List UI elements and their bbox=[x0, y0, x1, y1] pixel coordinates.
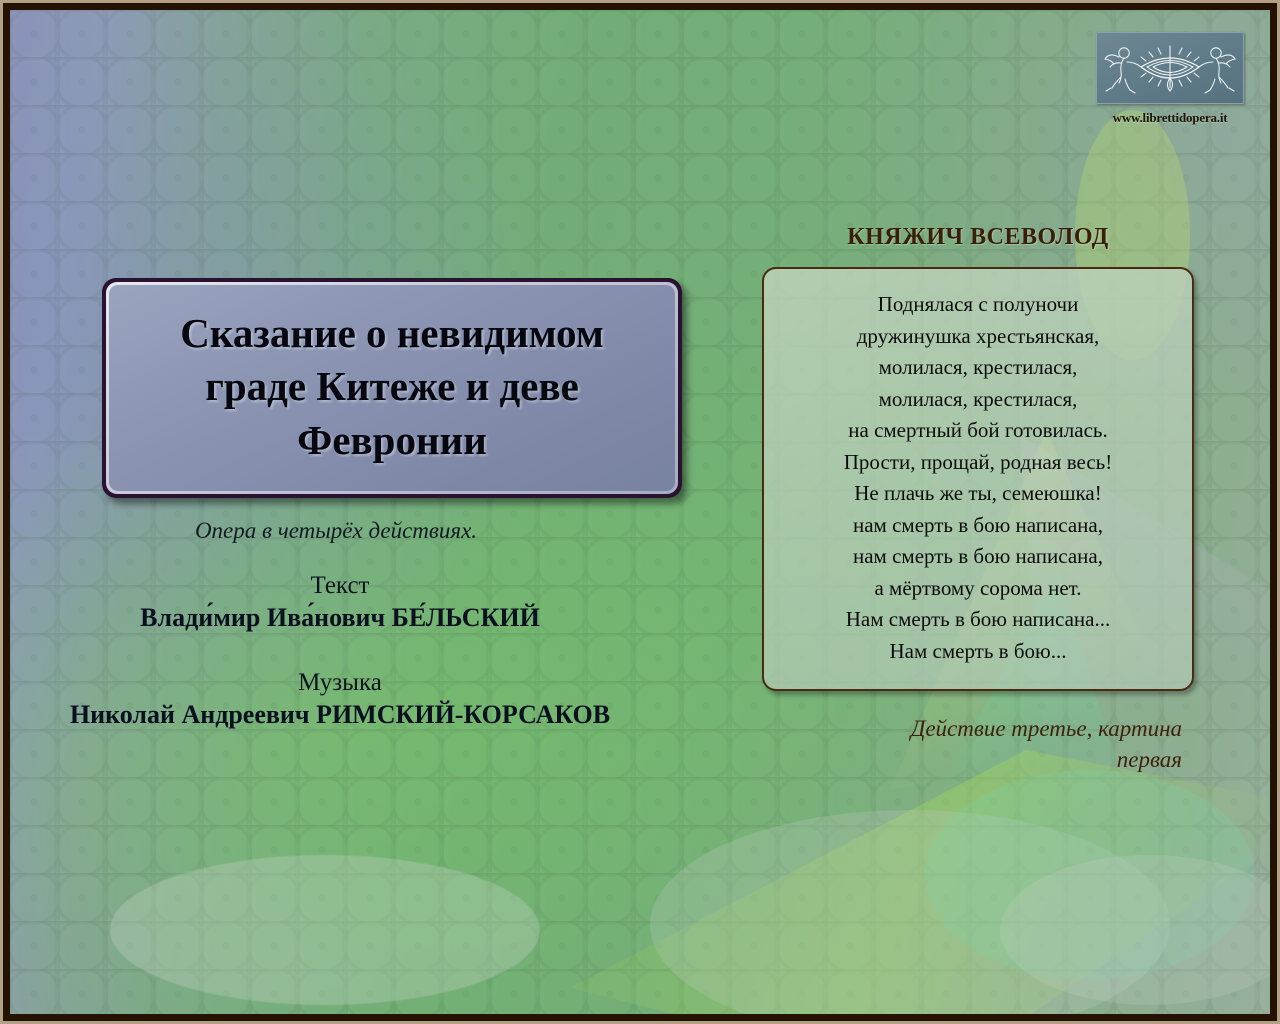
site-logo-block[interactable]: www.librettidopera.it bbox=[1094, 32, 1246, 126]
verse-line: Прости, прощай, родная весь! bbox=[778, 447, 1178, 479]
verse-line: а мёртвому сорома нет. bbox=[778, 573, 1178, 605]
verse-line: молилася, крестилася, bbox=[778, 384, 1178, 416]
title-plaque-bevel: Сказание о невидимом граде Китеже и деве… bbox=[106, 282, 678, 494]
verse-box: Поднялася с полуночи дружинушка хрестьян… bbox=[762, 267, 1194, 691]
character-name-heading: КНЯЖИЧ ВСЕВОЛОД bbox=[762, 224, 1194, 251]
librettist-role-label: Текст bbox=[10, 570, 670, 601]
title-line-1: Сказание о невидимом bbox=[131, 307, 653, 360]
composer-name: Николай Андреевич РИМСКИЙ-КОРСАКОВ bbox=[10, 698, 670, 732]
slide-frame: www.librettidopera.it Сказание о невидим… bbox=[3, 3, 1277, 1021]
site-url-label[interactable]: www.librettidopera.it bbox=[1094, 110, 1246, 126]
librettist-name: Влади́мир Ива́нович БЕ́ЛЬСКИЙ bbox=[10, 601, 670, 635]
slide-canvas: www.librettidopera.it Сказание о невидим… bbox=[0, 0, 1280, 1024]
scene-caption-line-2: первая bbox=[762, 744, 1182, 775]
verse-line: дружинушка хрестьянская, bbox=[778, 321, 1178, 353]
verse-line: Поднялася с полуночи bbox=[778, 289, 1178, 321]
verse-line: Нам смерть в бою... bbox=[778, 636, 1178, 668]
verse-line: молилася, крестилася, bbox=[778, 352, 1178, 384]
title-plaque: Сказание о невидимом граде Китеже и деве… bbox=[102, 278, 682, 498]
composer-role-label: Музыка bbox=[10, 667, 670, 698]
libretto-column: КНЯЖИЧ ВСЕВОЛОД Поднялася с полуночи дру… bbox=[762, 224, 1194, 775]
title-plaque-face: Сказание о невидимом граде Китеже и деве… bbox=[109, 285, 675, 491]
librettist-credit: Текст Влади́мир Ива́нович БЕ́ЛЬСКИЙ bbox=[10, 570, 710, 635]
verse-line: на смертный бой готовилась. bbox=[778, 415, 1178, 447]
scene-caption-line-1: Действие третье, картина bbox=[762, 713, 1182, 744]
verse-line: Не плачь же ты, семеюшка! bbox=[778, 478, 1178, 510]
opera-subtitle: Опера в четырёх действиях. bbox=[10, 518, 710, 544]
verse-line: Нам смерть в бою написана... bbox=[778, 604, 1178, 636]
scene-caption: Действие третье, картина первая bbox=[762, 713, 1194, 775]
verse-line: нам смерть в бою написана, bbox=[778, 541, 1178, 573]
composer-credit: Музыка Николай Андреевич РИМСКИЙ-КОРСАКО… bbox=[10, 667, 710, 732]
title-line-3: Февронии bbox=[131, 414, 653, 467]
page-title: Сказание о невидимом граде Китеже и деве… bbox=[131, 307, 653, 467]
cherubs-laurel-emblem-icon bbox=[1096, 32, 1244, 104]
title-column: Сказание о невидимом граде Китеже и деве… bbox=[10, 278, 710, 732]
title-line-2: граде Китеже и деве bbox=[131, 360, 653, 413]
verse-line: нам смерть в бою написана, bbox=[778, 510, 1178, 542]
